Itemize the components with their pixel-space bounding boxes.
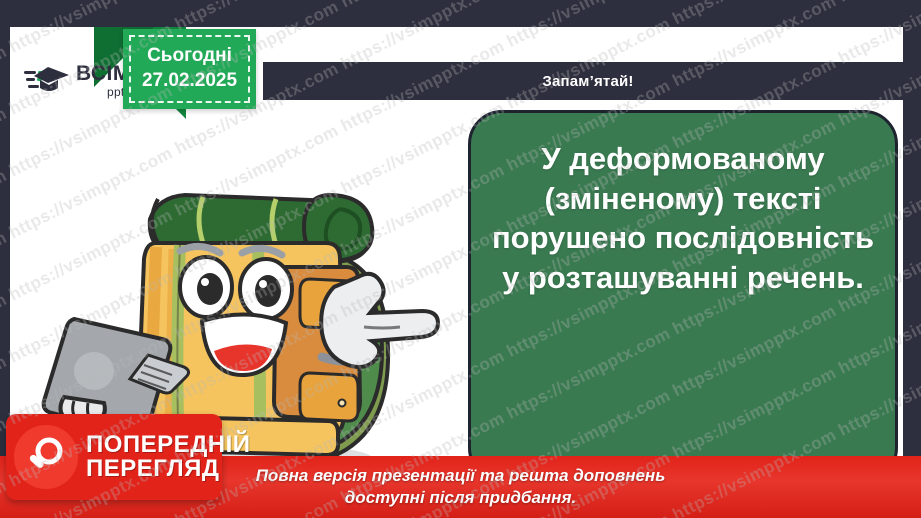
key-point-panel: У деформованому (зміненому) тексті поруш… (468, 110, 898, 482)
purchase-notice-line1: Повна версія презентації та решта доповн… (256, 465, 666, 487)
date-badge: Сьогодні 27.02.2025 (123, 29, 256, 109)
watermark-text: https://vsimpptx.com https://vsimpptx.co… (0, 0, 921, 18)
magnifier-icon (14, 425, 78, 489)
preview-badge-line1: ПОПЕРЕДНІЙ (86, 433, 251, 457)
brand-logo: ВСІМ pptx (24, 58, 131, 102)
page-title: Запам’ятай! (542, 73, 633, 90)
graduation-cap-icon (24, 63, 70, 97)
preview-badge-line2: ПЕРЕГЛЯД (86, 457, 251, 481)
date-badge-value: 27.02.2025 (142, 69, 237, 94)
date-badge-label: Сьогодні (147, 44, 232, 69)
purchase-notice-line2: доступні після придбання. (345, 487, 576, 509)
preview-badge: ПОПЕРЕДНІЙ ПЕРЕГЛЯД (6, 414, 222, 500)
key-point-text: У деформованому (зміненому) тексті поруш… (489, 139, 877, 298)
slide-title-bar: Запам’ятай! (263, 62, 913, 100)
presentation-slide: ВСІМ pptx Сьогодні 27.02.2025 Запам’ятай… (0, 0, 921, 518)
